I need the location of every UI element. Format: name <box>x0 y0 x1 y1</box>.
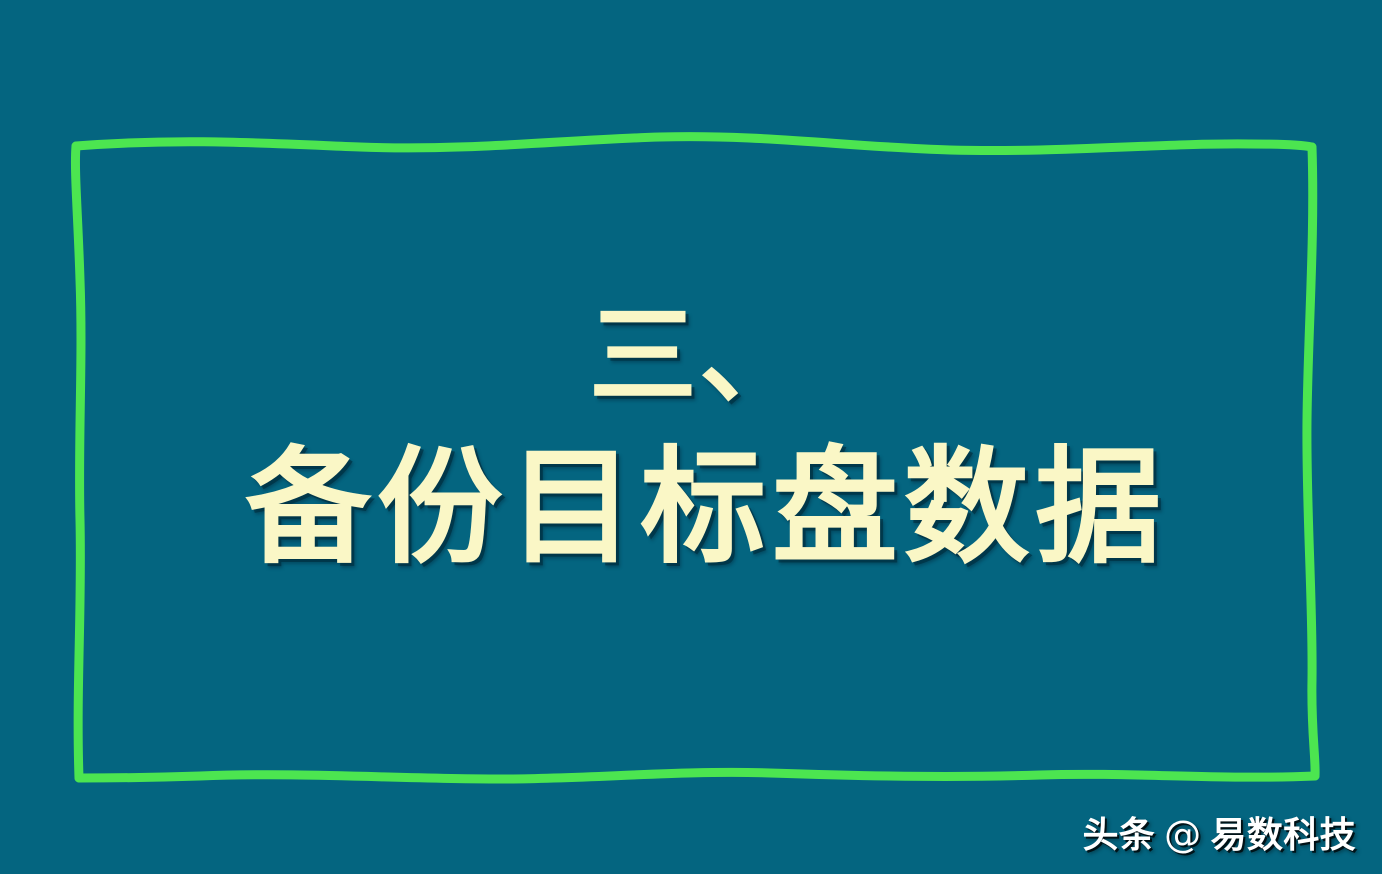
watermark-at-icon: @ <box>1164 813 1201 856</box>
page-title: 备份目标盘数据 <box>245 445 1167 571</box>
watermark-account-label: 易数科技 <box>1211 806 1356 858</box>
title-block: 三、 备份目标盘数据 <box>0 0 1382 874</box>
title-ordinal: 三、 <box>589 303 809 411</box>
watermark-platform-label: 头条 <box>1082 806 1155 858</box>
watermark: 头条 @ 易数科技 <box>1082 806 1356 858</box>
presentation-slide: 三、 备份目标盘数据 头条 @ 易数科技 <box>0 0 1382 874</box>
